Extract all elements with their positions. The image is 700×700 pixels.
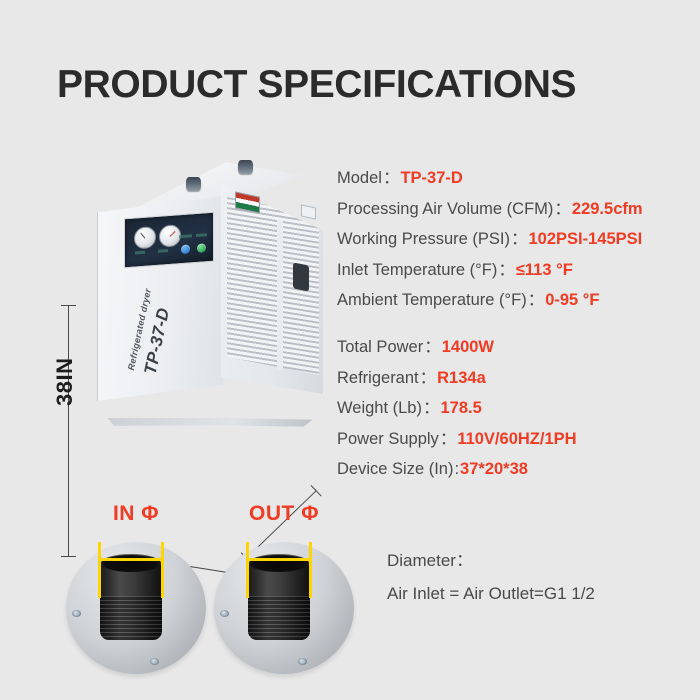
spec-value: 178.5 [440,399,481,417]
spec-value: 1400W [442,338,494,356]
air-outlet-figure: OUT Φ [208,536,360,676]
spec-row: Inlet Temperature (°F)：≤113 °F [337,255,697,286]
bracket-right-arm [309,542,312,598]
power-button-icon [181,244,190,254]
spec-row: Working Pressure (PSI)：102PSI-145PSI [337,224,697,255]
unit-top-cap-rear-icon [238,160,253,174]
diameter-info-block: Diameter： Air Inlet = Air Outlet=G1 1/2 [387,544,687,610]
air-outlet-title: OUT Φ [208,502,360,526]
specification-list: Model：TP-37-DProcessing Air Volume (CFM)… [337,163,697,485]
panel-marking-1 [135,251,145,255]
spec-label: Power Supply [337,430,439,448]
air-inlet-diameter-bracket [98,542,164,598]
specification-group-primary: Model：TP-37-DProcessing Air Volume (CFM)… [337,163,697,316]
run-indicator-icon [197,243,206,253]
spec-label: Working Pressure (PSI) [337,230,510,248]
pressure-gauge-icon [134,226,156,250]
unit-side-access-port [293,262,309,291]
temperature-gauge-icon [159,224,181,248]
spec-value: 229.5cfm [572,200,643,218]
spec-row: Weight (Lb)：178.5 [337,393,697,424]
flange-screw-left-icon [72,610,81,617]
specification-group-secondary: Total Power：1400WRefrigerant：R134aWeight… [337,332,697,485]
spec-value: TP-37-D [400,169,462,187]
spec-value: R134a [437,369,486,387]
spec-separator: ： [497,261,516,279]
spec-separator: ： [423,338,442,356]
spec-label: Processing Air Volume (CFM) [337,200,553,218]
bracket-left-arm [98,542,101,598]
spec-row: Model：TP-37-D [337,163,697,194]
spec-value: 37*20*38 [460,460,528,478]
product-figure: Refrigerated dryer TP-37-D 38IN 20IN 37I… [30,130,340,490]
refrigerated-dryer-illustration: Refrigerated dryer TP-37-D [85,150,335,450]
air-inlet-title: IN Φ [60,502,212,526]
spec-row: Refrigerant：R134a [337,363,697,394]
bracket-top-arm [246,558,312,561]
spec-label: Weight (Lb) [337,399,422,417]
page-title: PRODUCT SPECIFICATIONS [57,63,576,107]
panel-marking-4 [196,233,207,237]
spec-separator: ： [382,169,401,187]
spec-separator: ： [510,230,529,248]
flange-screw-bottom-icon [298,658,307,665]
flange-screw-left-icon [220,610,229,617]
spec-label: Ambient Temperature (°F) [337,291,527,309]
spec-label: Device Size (In) [337,460,453,478]
spec-row: Device Size (In):37*20*38 [337,454,697,485]
spec-label: Total Power [337,338,423,356]
spec-separator: ： [527,291,546,309]
spec-label: Inlet Temperature (°F) [337,261,497,279]
spec-value: 110V/60HZ/1PH [457,430,576,448]
unit-rating-plate-icon [301,204,316,219]
air-inlet-figure: IN Φ [60,536,212,676]
bracket-left-arm [246,542,249,598]
spec-label: Model [337,169,382,187]
air-outlet-diameter-bracket [246,542,312,598]
spec-row: Ambient Temperature (°F)：0-95 °F [337,285,697,316]
flange-screw-bottom-icon [150,658,159,665]
unit-control-panel [124,212,214,269]
product-specifications-page: PRODUCT SPECIFICATIONS [0,0,700,700]
spec-label: Refrigerant [337,369,419,387]
spec-separator: ： [553,200,572,218]
spec-separator: ： [422,399,441,417]
unit-vent-divider [277,219,283,370]
bracket-top-arm [98,558,164,561]
spec-value: 102PSI-145PSI [529,230,643,248]
air-inlet-pipe-threads [100,596,162,640]
unit-top-cap-front-icon [186,177,201,191]
height-dimension-label: 38IN [52,358,78,406]
diameter-heading: Diameter： [387,544,687,577]
spec-row: Power Supply：110V/60HZ/1PH [337,424,697,455]
air-outlet-pipe-threads [248,596,310,640]
ports-section: IN Φ OUT Φ [0,498,700,698]
spec-row: Processing Air Volume (CFM)：229.5cfm [337,194,697,225]
spec-row: Total Power：1400W [337,332,697,363]
spec-separator: ： [439,430,458,448]
diameter-value: Air Inlet = Air Outlet=G1 1/2 [387,577,687,610]
spec-value: 0-95 °F [545,291,599,309]
panel-marking-2 [158,249,168,253]
spec-value: ≤113 °F [516,261,573,279]
unit-feet [101,418,319,432]
panel-marking-3 [179,234,192,238]
bracket-right-arm [161,542,164,598]
spec-separator: ： [419,369,438,387]
